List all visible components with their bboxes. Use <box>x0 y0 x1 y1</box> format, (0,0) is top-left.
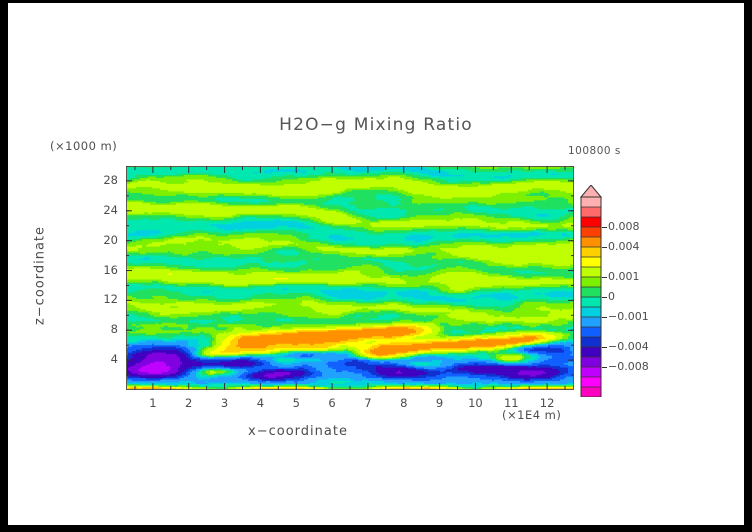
colorbar-tick-mark <box>602 227 607 228</box>
y-tick-label: 8 <box>84 322 118 336</box>
colorbar-tick-label: −0.001 <box>608 310 649 323</box>
colorbar-tick-mark <box>602 347 607 348</box>
colorbar-tick-label: −0.008 <box>608 360 649 373</box>
y-tick-label: 4 <box>84 352 118 366</box>
x-tick-label: 8 <box>390 396 418 410</box>
y-tick-label: 20 <box>84 233 118 247</box>
x-tick-label: 12 <box>533 396 561 410</box>
x-tick-label: 3 <box>211 396 239 410</box>
y-tick-label: 28 <box>84 173 118 187</box>
colorbar-swatches <box>580 185 602 397</box>
colorbar-tick-label: −0.004 <box>608 340 649 353</box>
y-tick-label: 16 <box>84 263 118 277</box>
x-tick-label: 10 <box>461 396 489 410</box>
x-tick-label: 4 <box>246 396 274 410</box>
colorbar-tick-label: 0.008 <box>608 220 640 233</box>
x-tick-label: 1 <box>139 396 167 410</box>
page-title: H2O−g Mixing Ratio <box>8 115 744 135</box>
colorbar-tick-mark <box>602 297 607 298</box>
y-tick-label: 24 <box>84 203 118 217</box>
colorbar-tick-mark <box>602 317 607 318</box>
colorbar-tick-label: 0.004 <box>608 240 640 253</box>
colorbar-tick-mark <box>602 367 607 368</box>
x-axis-title: x−coordinate <box>8 424 588 439</box>
x-tick-label: 5 <box>282 396 310 410</box>
x-tick-label: 2 <box>175 396 203 410</box>
colorbar-tick-label: 0 <box>608 290 615 303</box>
colorbar <box>580 185 602 401</box>
timestamp-label: 100800 s <box>568 145 621 157</box>
colorbar-tick-mark <box>602 277 607 278</box>
x-tick-label: 7 <box>354 396 382 410</box>
y-axis-title: z−coordinate <box>33 216 48 336</box>
figure-canvas: H2O−g Mixing Ratio (×1000 m) (×1E4 m) 10… <box>8 3 744 525</box>
x-tick-label: 6 <box>318 396 346 410</box>
contour-plot-area <box>126 166 574 390</box>
colorbar-tick-mark <box>602 247 607 248</box>
x-axis-unit-label: (×1E4 m) <box>502 408 561 422</box>
colorbar-tick-label: 0.001 <box>608 270 640 283</box>
y-axis-unit-label: (×1000 m) <box>50 139 117 153</box>
x-tick-label: 9 <box>426 396 454 410</box>
y-tick-label: 12 <box>84 292 118 306</box>
x-tick-label: 11 <box>497 396 525 410</box>
contour-field <box>126 166 574 390</box>
